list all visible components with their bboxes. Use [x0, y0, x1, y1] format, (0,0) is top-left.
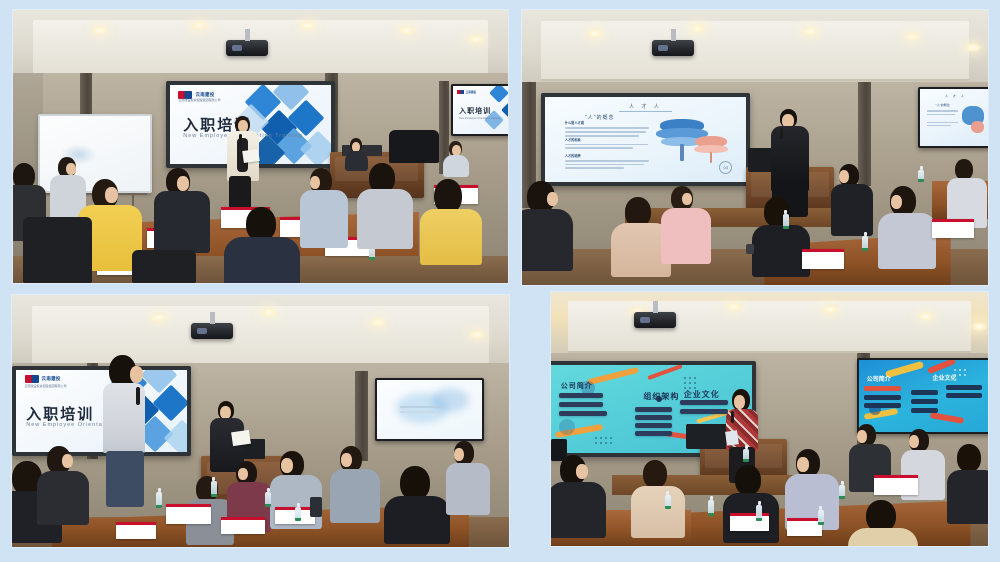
wall-display-title: 入职培训 — [459, 106, 491, 116]
wall-display-left-title: 公司简介 — [867, 374, 891, 383]
slide-logo-subtitle: 云南建设投资控股集团有限公司 — [178, 98, 220, 102]
photo-bottom-right[interactable]: 公司简介 组织架构 企业文化 — [551, 292, 988, 546]
wall-display-logo: 云南建投 — [466, 90, 476, 94]
ceiling-projector-icon — [634, 312, 676, 328]
ceiling-projector-icon — [226, 40, 268, 56]
table-name-card — [166, 504, 211, 524]
slide-title-onboarding: 云南建投 云南建设投资控股集团有限公司 入职培训 New Employee Or… — [16, 370, 187, 453]
wall-display-subtitle: New Employee Orientation Training — [459, 117, 500, 120]
slide-logo-name: 云南建投 — [42, 376, 61, 382]
photo-collage: 云南建投 云南建设投资控股集团有限公司 入职培训 New Employee Or… — [0, 0, 1000, 562]
slide-center-title: 组织架构 — [643, 391, 679, 402]
table-name-card — [802, 249, 844, 268]
table-name-card — [730, 513, 769, 531]
slide-subtitle: New Employee Orientation — [26, 422, 115, 428]
wall-display-section-title: "人"的概念 — [936, 103, 950, 107]
microphone-icon — [136, 387, 140, 405]
wall-display-header: 人 才 人 — [945, 94, 966, 98]
ceiling-projector-icon — [652, 40, 694, 56]
tree-graphic-coral — [694, 136, 728, 163]
table-name-card — [787, 518, 822, 536]
slide-title: 入职培训 — [26, 403, 94, 424]
table-name-card — [116, 522, 156, 540]
photo-bottom-left[interactable]: 云南建投 云南建设投资控股集团有限公司 入职培训 New Employee Or… — [12, 295, 509, 547]
projection-screen-bottom-left: 云南建投 云南建设投资控股集团有限公司 入职培训 New Employee Or… — [12, 366, 191, 457]
slide-left-title: 公司简介 — [561, 381, 593, 391]
table-name-card — [874, 475, 918, 495]
slide-para-heading: 人才的培养 — [565, 153, 650, 158]
slide-para-heading: 什么是人才观 — [565, 120, 650, 125]
slide-logo-name: 云南建投 — [195, 92, 214, 98]
slide-concept-people: 人 才 人 "人"的概念 什么是人才观 人才的标准 人才的培养 — [545, 97, 747, 183]
table-name-card — [221, 517, 266, 535]
ceiling-projector-icon — [191, 323, 233, 339]
mobile-phone-icon — [551, 439, 567, 461]
wall-display-bottom-left — [375, 378, 484, 441]
microphone-icon — [731, 411, 734, 423]
wall-display-top-left: 云南建投 入职培训 New Employee Orientation Train… — [451, 84, 508, 136]
projection-screen-top-right: 人 才 人 "人"的概念 什么是人才观 人才的标准 人才的培养 — [541, 93, 751, 187]
photo-top-right[interactable]: 人 才 人 "人"的概念 什么是人才观 人才的标准 人才的培养 — [522, 10, 988, 285]
wall-display-top-right: 人 才 人 "人"的概念 — [918, 87, 988, 148]
slide-right-title: 企业文化 — [684, 389, 720, 400]
slide-header: 人 才 人 — [629, 103, 662, 110]
wall-display-bottom-right: 公司简介 企业文化 — [857, 358, 988, 434]
brand-mark-icon — [25, 375, 39, 383]
table-name-card — [932, 219, 974, 238]
slide-logo-subtitle: 云南建设投资控股集团有限公司 — [25, 384, 67, 388]
slide-para-heading: 人才的标准 — [565, 137, 650, 142]
wall-display-right-title: 企业文化 — [933, 373, 957, 382]
slide-page-badge: 03 — [719, 161, 732, 174]
photo-top-left[interactable]: 云南建投 云南建设投资控股集团有限公司 入职培训 New Employee Or… — [13, 10, 508, 283]
